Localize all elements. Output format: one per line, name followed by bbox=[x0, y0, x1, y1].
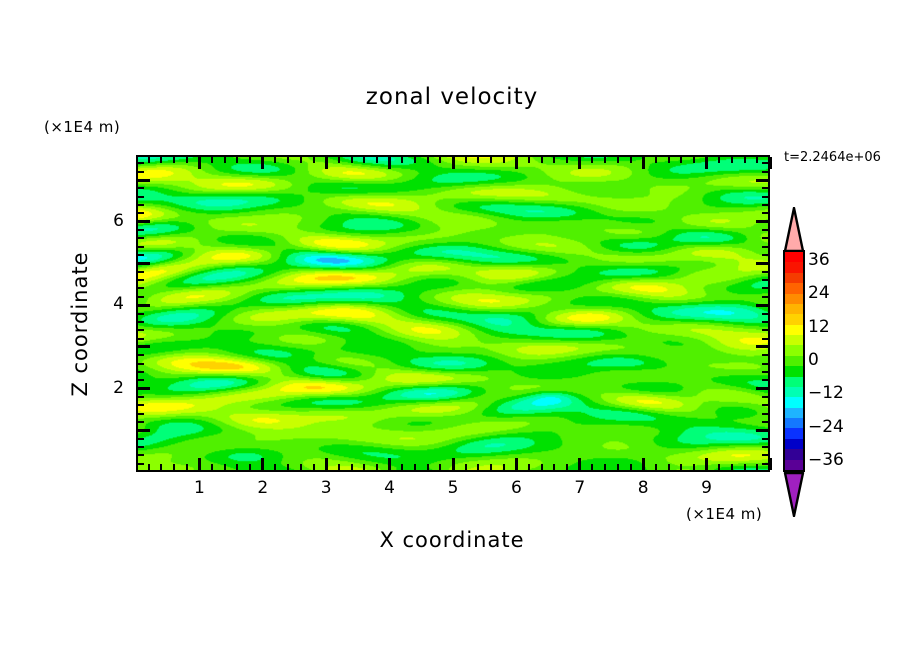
axis-tick bbox=[261, 157, 264, 169]
colorbar-band bbox=[785, 449, 803, 459]
colorbar-band bbox=[785, 262, 803, 272]
colorbar-band bbox=[785, 252, 803, 262]
axis-tick bbox=[173, 157, 175, 163]
colorbar-band bbox=[785, 294, 803, 304]
axis-tick bbox=[138, 246, 144, 248]
colorbar-tick-label: −12 bbox=[808, 383, 844, 403]
axis-tick bbox=[762, 421, 768, 423]
axis-tick bbox=[186, 464, 188, 470]
colorbar-over-arrow bbox=[783, 207, 805, 252]
axis-tick bbox=[744, 464, 746, 470]
axis-tick bbox=[762, 237, 768, 239]
axis-tick bbox=[762, 338, 768, 340]
axis-tick bbox=[138, 187, 144, 189]
axis-tick bbox=[762, 279, 768, 281]
axis-tick bbox=[261, 458, 264, 470]
axis-tick bbox=[138, 345, 150, 348]
x-axis-title: X coordinate bbox=[0, 528, 904, 552]
axis-tick bbox=[138, 396, 144, 398]
axis-tick bbox=[452, 157, 455, 169]
axis-tick bbox=[439, 464, 441, 470]
axis-tick bbox=[300, 157, 302, 163]
axis-tick bbox=[274, 157, 276, 163]
colorbar-tick-label: −36 bbox=[808, 450, 844, 470]
axis-tick bbox=[642, 157, 645, 169]
axis-tick bbox=[138, 254, 144, 256]
axis-tick bbox=[351, 464, 353, 470]
axis-tick bbox=[401, 157, 403, 163]
x-tick-label: 9 bbox=[687, 478, 727, 498]
colorbar-band bbox=[785, 428, 803, 438]
axis-tick bbox=[325, 458, 328, 470]
axis-tick bbox=[338, 157, 340, 163]
axis-tick bbox=[138, 229, 144, 231]
axis-tick bbox=[363, 464, 365, 470]
axis-tick bbox=[762, 296, 768, 298]
axis-tick bbox=[744, 157, 746, 163]
axis-tick bbox=[528, 464, 530, 470]
axis-tick bbox=[762, 438, 768, 440]
axis-tick bbox=[503, 157, 505, 163]
colorbar-band bbox=[785, 273, 803, 283]
axis-tick bbox=[762, 313, 768, 315]
axis-tick bbox=[756, 220, 768, 223]
y-tick-label: 4 bbox=[84, 294, 124, 314]
axis-tick bbox=[138, 463, 144, 465]
axis-tick bbox=[617, 157, 619, 163]
x-tick-label: 5 bbox=[433, 478, 473, 498]
axis-tick bbox=[138, 204, 144, 206]
x-tick-label: 7 bbox=[560, 478, 600, 498]
axis-tick bbox=[553, 464, 555, 470]
axis-tick bbox=[138, 421, 144, 423]
axis-tick bbox=[762, 196, 768, 198]
axis-tick bbox=[376, 157, 378, 163]
axis-tick bbox=[414, 464, 416, 470]
axis-tick bbox=[138, 363, 144, 365]
x-tick-label: 3 bbox=[306, 478, 346, 498]
axis-tick bbox=[762, 354, 768, 356]
axis-tick bbox=[680, 157, 682, 163]
axis-tick bbox=[138, 220, 150, 223]
axis-tick bbox=[553, 157, 555, 163]
axis-tick bbox=[138, 413, 144, 415]
x-tick-label: 8 bbox=[623, 478, 663, 498]
colorbar-band bbox=[785, 304, 803, 314]
axis-tick bbox=[138, 171, 144, 173]
axis-tick bbox=[138, 371, 144, 373]
axis-tick bbox=[138, 313, 144, 315]
axis-tick bbox=[655, 464, 657, 470]
axis-tick bbox=[762, 212, 768, 214]
axis-tick bbox=[173, 464, 175, 470]
axis-tick bbox=[756, 304, 768, 307]
axis-tick bbox=[477, 464, 479, 470]
colorbar-tick-label: 12 bbox=[808, 317, 830, 337]
axis-tick bbox=[762, 363, 768, 365]
axis-tick bbox=[138, 179, 150, 182]
colorbar-tick-label: 0 bbox=[808, 350, 819, 370]
axis-tick bbox=[287, 464, 289, 470]
colorbar-labels: 3624120−12−24−36 bbox=[808, 207, 878, 527]
axis-tick bbox=[236, 464, 238, 470]
axis-tick bbox=[756, 429, 768, 432]
x-tick-label: 1 bbox=[179, 478, 219, 498]
plot-area bbox=[136, 155, 770, 472]
axis-tick bbox=[756, 157, 758, 163]
axis-tick bbox=[762, 171, 768, 173]
axis-tick bbox=[756, 464, 758, 470]
axis-tick bbox=[465, 157, 467, 163]
time-annotation: t=2.2464e+06 bbox=[784, 150, 881, 165]
axis-tick bbox=[578, 157, 581, 169]
axis-tick bbox=[376, 464, 378, 470]
axis-tick bbox=[731, 157, 733, 163]
axis-tick bbox=[528, 157, 530, 163]
axis-tick bbox=[680, 464, 682, 470]
axis-tick bbox=[224, 157, 226, 163]
colorbar-band bbox=[785, 387, 803, 397]
axis-tick bbox=[427, 157, 429, 163]
colorbar-band bbox=[785, 408, 803, 418]
axis-tick bbox=[668, 464, 670, 470]
axis-tick bbox=[655, 157, 657, 163]
colorbar-band bbox=[785, 345, 803, 355]
y-tick-label: 2 bbox=[84, 378, 124, 398]
x-tick-label: 4 bbox=[370, 478, 410, 498]
colorbar-band bbox=[785, 314, 803, 324]
colorbar-band bbox=[785, 377, 803, 387]
axis-tick bbox=[148, 157, 150, 163]
axis-tick bbox=[566, 157, 568, 163]
colorbar-band bbox=[785, 283, 803, 293]
axis-tick bbox=[718, 157, 720, 163]
axis-tick bbox=[566, 464, 568, 470]
axis-tick bbox=[762, 446, 768, 448]
axis-tick bbox=[756, 179, 768, 182]
axis-tick bbox=[138, 438, 144, 440]
axis-tick bbox=[769, 157, 772, 169]
axis-tick bbox=[762, 413, 768, 415]
axis-tick bbox=[617, 464, 619, 470]
axis-tick bbox=[718, 464, 720, 470]
colorbar-band bbox=[785, 439, 803, 449]
axis-tick bbox=[762, 246, 768, 248]
axis-tick bbox=[756, 262, 768, 265]
axis-tick bbox=[138, 304, 150, 307]
axis-tick bbox=[138, 271, 144, 273]
axis-tick bbox=[414, 157, 416, 163]
colorbar-band bbox=[785, 418, 803, 428]
axis-tick bbox=[541, 464, 543, 470]
axis-tick bbox=[388, 458, 391, 470]
axis-tick bbox=[138, 296, 144, 298]
axis-tick bbox=[762, 379, 768, 381]
axis-tick bbox=[224, 464, 226, 470]
axis-tick bbox=[769, 458, 772, 470]
colorbar-band bbox=[785, 366, 803, 376]
axis-tick bbox=[363, 157, 365, 163]
axis-tick bbox=[427, 464, 429, 470]
colorbar-band bbox=[785, 335, 803, 345]
axis-tick bbox=[668, 157, 670, 163]
axis-tick bbox=[211, 157, 213, 163]
axis-tick bbox=[762, 463, 768, 465]
colorbar-band bbox=[785, 397, 803, 407]
axis-tick bbox=[138, 454, 144, 456]
axis-tick bbox=[138, 212, 144, 214]
contour-field bbox=[138, 157, 768, 470]
axis-tick bbox=[138, 237, 144, 239]
axis-tick bbox=[439, 157, 441, 163]
axis-tick bbox=[591, 464, 593, 470]
axis-tick bbox=[148, 464, 150, 470]
axis-tick bbox=[762, 162, 768, 164]
axis-tick bbox=[578, 458, 581, 470]
axis-tick bbox=[138, 379, 144, 381]
axis-tick bbox=[287, 157, 289, 163]
chart-title: zonal velocity bbox=[0, 84, 904, 110]
axis-tick bbox=[138, 287, 144, 289]
axis-tick bbox=[274, 464, 276, 470]
axis-tick bbox=[604, 157, 606, 163]
axis-tick bbox=[313, 464, 315, 470]
axis-tick bbox=[503, 464, 505, 470]
x-axis-unit-label: (×1E4 m) bbox=[686, 505, 762, 523]
axis-tick bbox=[515, 458, 518, 470]
axis-tick bbox=[452, 458, 455, 470]
axis-tick bbox=[762, 254, 768, 256]
axis-tick bbox=[249, 464, 251, 470]
axis-tick bbox=[138, 279, 144, 281]
axis-tick bbox=[762, 371, 768, 373]
z-axis-unit-label: (×1E4 m) bbox=[44, 118, 120, 136]
axis-tick bbox=[198, 458, 201, 470]
colorbar-band bbox=[785, 460, 803, 470]
axis-tick bbox=[642, 458, 645, 470]
axis-tick bbox=[138, 387, 150, 390]
axis-tick bbox=[138, 321, 144, 323]
axis-tick bbox=[762, 404, 768, 406]
axis-tick bbox=[300, 464, 302, 470]
axis-tick bbox=[186, 157, 188, 163]
colorbar-tick-label: 24 bbox=[808, 283, 830, 303]
axis-tick bbox=[138, 404, 144, 406]
x-tick-label: 2 bbox=[243, 478, 283, 498]
axis-tick bbox=[138, 262, 150, 265]
axis-tick bbox=[762, 204, 768, 206]
axis-tick bbox=[515, 157, 518, 169]
axis-tick bbox=[138, 329, 144, 331]
axis-tick bbox=[756, 387, 768, 390]
axis-tick bbox=[762, 329, 768, 331]
axis-tick bbox=[762, 271, 768, 273]
axis-tick bbox=[630, 464, 632, 470]
axis-tick bbox=[477, 157, 479, 163]
axis-tick bbox=[138, 338, 144, 340]
axis-tick bbox=[198, 157, 201, 169]
axis-tick bbox=[138, 354, 144, 356]
axis-tick bbox=[236, 157, 238, 163]
colorbar-band bbox=[785, 356, 803, 366]
axis-tick bbox=[490, 464, 492, 470]
axis-tick bbox=[762, 287, 768, 289]
axis-tick bbox=[401, 464, 403, 470]
axis-tick bbox=[630, 157, 632, 163]
axis-tick bbox=[325, 157, 328, 169]
axis-tick bbox=[160, 464, 162, 470]
axis-tick bbox=[138, 162, 144, 164]
axis-tick bbox=[731, 464, 733, 470]
axis-tick bbox=[138, 429, 150, 432]
axis-tick bbox=[762, 229, 768, 231]
axis-tick bbox=[541, 157, 543, 163]
axis-tick bbox=[762, 396, 768, 398]
axis-tick bbox=[160, 157, 162, 163]
colorbar-tick-label: −24 bbox=[808, 417, 844, 437]
axis-tick bbox=[591, 157, 593, 163]
axis-tick bbox=[705, 458, 708, 470]
axis-tick bbox=[313, 157, 315, 163]
axis-tick bbox=[490, 157, 492, 163]
axis-tick bbox=[604, 464, 606, 470]
y-tick-label: 6 bbox=[84, 211, 124, 231]
axis-tick bbox=[211, 464, 213, 470]
colorbar-band bbox=[785, 325, 803, 335]
axis-tick bbox=[338, 464, 340, 470]
axis-tick bbox=[762, 454, 768, 456]
colorbar-tick-label: 36 bbox=[808, 250, 830, 270]
axis-tick bbox=[138, 196, 144, 198]
axis-tick bbox=[705, 157, 708, 169]
axis-tick bbox=[762, 187, 768, 189]
x-tick-label: 6 bbox=[496, 478, 536, 498]
axis-tick bbox=[756, 345, 768, 348]
axis-tick bbox=[388, 157, 391, 169]
axis-tick bbox=[138, 446, 144, 448]
axis-tick bbox=[249, 157, 251, 163]
colorbar-under-arrow bbox=[783, 472, 805, 517]
axis-tick bbox=[693, 464, 695, 470]
axis-tick bbox=[351, 157, 353, 163]
axis-tick bbox=[465, 464, 467, 470]
axis-tick bbox=[693, 157, 695, 163]
axis-tick bbox=[762, 321, 768, 323]
